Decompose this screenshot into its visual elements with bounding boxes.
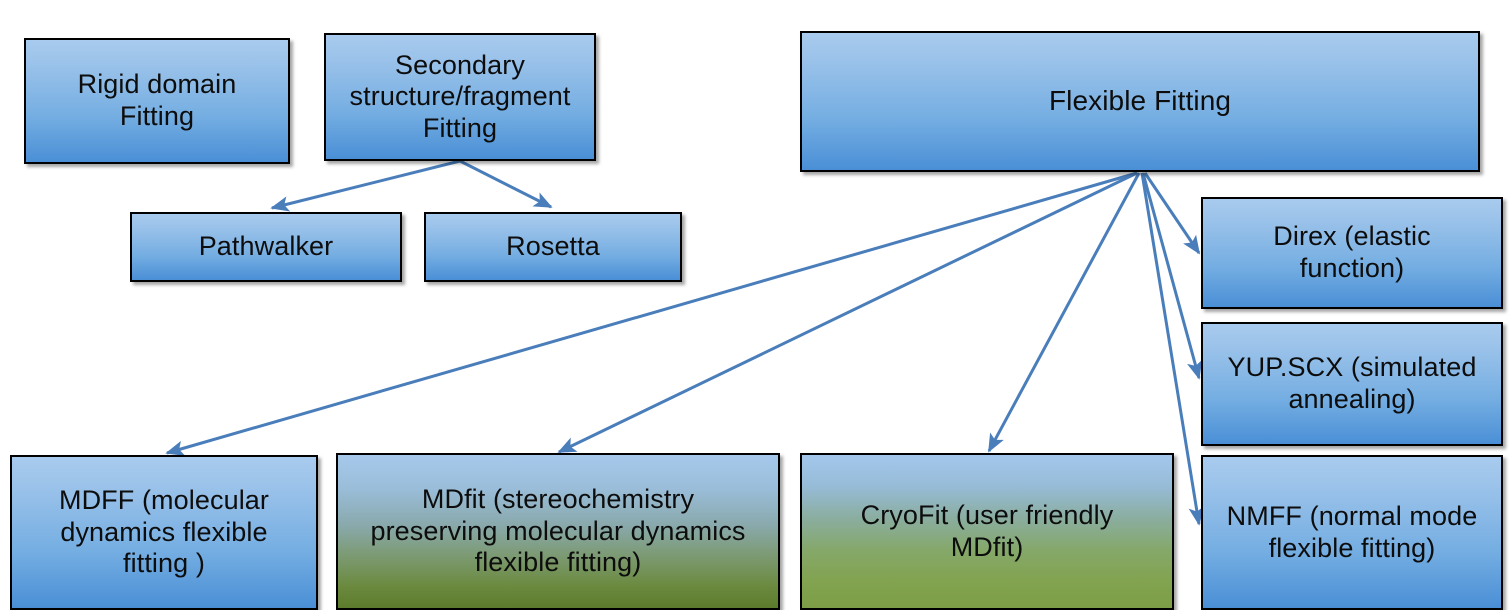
node-label-line: MDFF (molecular [20, 485, 308, 517]
node-label-mdfit: MDfit (stereochemistrypreserving molecul… [346, 484, 770, 579]
node-label-yup-scx: YUP.SCX (simulatedannealing) [1211, 352, 1493, 415]
node-label-secondary-structure-fragment-fitting: Secondarystructure/fragmentFitting [334, 50, 586, 145]
node-label-line: YUP.SCX (simulated [1211, 352, 1493, 384]
node-label-line: Rigid domain [34, 69, 280, 101]
node-label-line: CryoFit (user friendly [810, 500, 1164, 532]
node-rosetta[interactable]: Rosetta [424, 212, 682, 282]
arrow-flexible-to-direx [1145, 173, 1199, 253]
node-label-nmff: NMFF (normal modeflexible fitting) [1211, 501, 1493, 564]
node-label-rigid-domain-fitting: Rigid domainFitting [34, 69, 280, 132]
node-label-line: Fitting [34, 101, 280, 133]
node-label-line: MDfit (stereochemistry [346, 484, 770, 516]
node-label-line: Secondary [334, 50, 586, 82]
node-mdfit[interactable]: MDfit (stereochemistrypreserving molecul… [336, 453, 780, 610]
node-label-line: Rosetta [434, 231, 672, 263]
node-label-line: NMFF (normal mode [1211, 501, 1493, 533]
node-label-line: flexible fitting) [346, 547, 770, 579]
node-label-line: structure/fragment [334, 81, 586, 113]
node-label-rosetta: Rosetta [434, 231, 672, 263]
arrow-secondary-to-rosetta [460, 161, 551, 207]
arrow-flexible-to-cryofit [989, 173, 1139, 451]
node-label-line: Fitting [334, 113, 586, 145]
node-label-line: function) [1211, 253, 1493, 285]
flexible-fitting-diagram: Rigid domainFittingSecondarystructure/fr… [0, 0, 1512, 610]
arrow-flexible-to-yupscx [1143, 173, 1199, 378]
node-direx[interactable]: Direx (elasticfunction) [1201, 197, 1503, 309]
node-label-pathwalker: Pathwalker [140, 231, 392, 263]
node-yup-scx[interactable]: YUP.SCX (simulatedannealing) [1201, 322, 1503, 446]
node-label-line: Flexible Fitting [810, 85, 1470, 118]
node-label-line: preserving molecular dynamics [346, 516, 770, 548]
node-flexible-fitting[interactable]: Flexible Fitting [800, 31, 1480, 172]
node-label-line: dynamics flexible [20, 517, 308, 549]
node-label-mdff: MDFF (moleculardynamics flexiblefitting … [20, 485, 308, 580]
node-mdff[interactable]: MDFF (moleculardynamics flexiblefitting … [10, 455, 318, 610]
node-label-line: fitting ) [20, 548, 308, 580]
node-label-line: Direx (elastic [1211, 221, 1493, 253]
node-label-direx: Direx (elasticfunction) [1211, 221, 1493, 284]
node-label-line: Pathwalker [140, 231, 392, 263]
node-cryofit[interactable]: CryoFit (user friendlyMDfit) [800, 453, 1174, 610]
node-label-line: MDfit) [810, 532, 1164, 564]
node-label-cryofit: CryoFit (user friendlyMDfit) [810, 500, 1164, 563]
node-label-line: flexible fitting) [1211, 533, 1493, 565]
node-nmff[interactable]: NMFF (normal modeflexible fitting) [1201, 455, 1503, 610]
arrow-secondary-to-pathwalker [272, 161, 460, 208]
node-pathwalker[interactable]: Pathwalker [130, 212, 402, 282]
node-rigid-domain-fitting[interactable]: Rigid domainFitting [24, 38, 290, 164]
node-label-line: annealing) [1211, 384, 1493, 416]
node-label-flexible-fitting: Flexible Fitting [810, 85, 1470, 118]
node-secondary-structure-fragment-fitting[interactable]: Secondarystructure/fragmentFitting [324, 33, 596, 161]
